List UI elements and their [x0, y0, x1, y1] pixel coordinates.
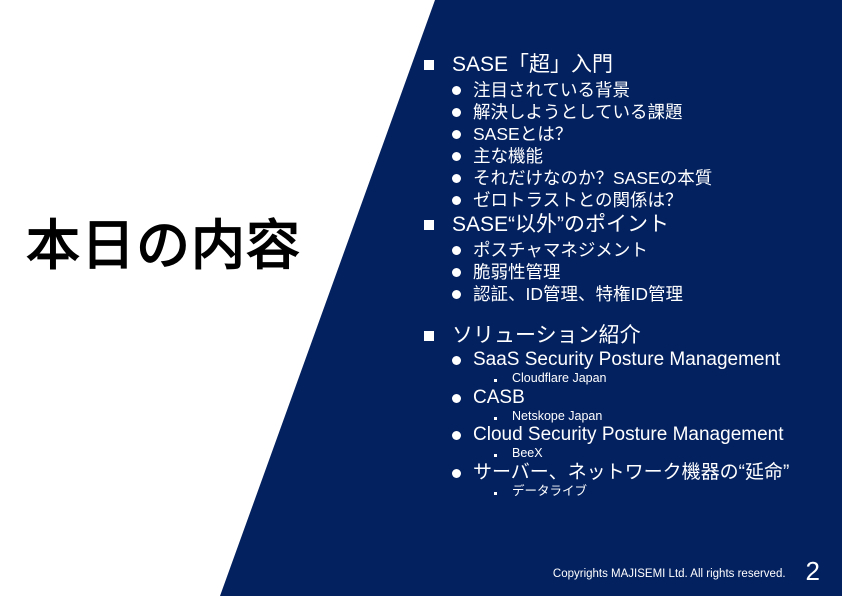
slide: 本日の内容 SASE「超」入門 注目されている背景 解決しようとしている課題 S… [0, 0, 842, 596]
circle-bullet-icon [452, 469, 461, 478]
square-bullet-icon [424, 331, 434, 341]
page-number: 2 [806, 558, 820, 584]
circle-bullet-icon [452, 356, 461, 365]
circle-bullet-icon [452, 431, 461, 440]
outline-group-solutions: ソリューション紹介 SaaS Security Posture Manageme… [424, 323, 838, 499]
dot-bullet-icon [494, 454, 497, 457]
circle-bullet-icon [452, 246, 461, 255]
square-bullet-icon [424, 220, 434, 230]
list-item-label: SaaS Security Posture Management [473, 349, 838, 371]
outline-heading: SASE“以外”のポイント [424, 212, 838, 238]
slide-footer: Copyrights MAJISEMI Ltd. All rights rese… [553, 558, 820, 584]
circle-bullet-icon [452, 86, 461, 95]
list-item: SASEとは？ [452, 123, 838, 145]
outline-heading-label: ソリューション紹介 [452, 323, 838, 349]
list-item-label: ゼロトラストとの関係は？ [473, 189, 838, 211]
circle-bullet-icon [452, 394, 461, 403]
outline-heading-label: SASE“以外”のポイント [452, 212, 838, 238]
list-item: Cloud Security Posture Management [452, 424, 838, 446]
list-item-label: SASEとは？ [473, 123, 838, 145]
sub-list-item: Cloudflare Japan [494, 371, 838, 387]
copyright-text: Copyrights MAJISEMI Ltd. All rights rese… [553, 569, 786, 585]
circle-bullet-icon [452, 268, 461, 277]
sub-list-item: データライブ [494, 484, 838, 500]
circle-bullet-icon [452, 174, 461, 183]
outline-content: SASE「超」入門 注目されている背景 解決しようとしている課題 SASEとは？… [424, 52, 838, 499]
dot-bullet-icon [494, 492, 497, 495]
outline-heading: SASE「超」入門 [424, 52, 838, 78]
list-item: ポスチャマネジメント [452, 239, 838, 261]
list-item-label: 認証、ID管理、特権ID管理 [473, 283, 838, 305]
list-item: 主な機能 [452, 145, 838, 167]
list-item: 認証、ID管理、特権ID管理 [452, 283, 838, 305]
section-spacer [424, 305, 838, 323]
list-item: SaaS Security Posture Management [452, 349, 838, 371]
sub-list-item: Netskope Japan [494, 409, 838, 425]
circle-bullet-icon [452, 290, 461, 299]
circle-bullet-icon [452, 130, 461, 139]
sub-list-item-label: Cloudflare Japan [512, 371, 838, 387]
circle-bullet-icon [452, 196, 461, 205]
list-item-label: それだけなのか？SASEの本質 [473, 167, 838, 189]
page-title: 本日の内容 [26, 218, 356, 275]
list-item: CASB [452, 387, 838, 409]
circle-bullet-icon [452, 152, 461, 161]
sub-list-item-label: Netskope Japan [512, 409, 838, 425]
list-item-label: ポスチャマネジメント [473, 239, 838, 261]
list-item-label: Cloud Security Posture Management [473, 424, 838, 446]
list-item: ゼロトラストとの関係は？ [452, 189, 838, 211]
dot-bullet-icon [494, 379, 497, 382]
sub-list-item-label: データライブ [512, 484, 838, 500]
list-item-label: 注目されている背景 [473, 79, 838, 101]
list-item: 脆弱性管理 [452, 261, 838, 283]
sub-list-item-label: BeeX [512, 446, 838, 462]
list-item-label: 主な機能 [473, 145, 838, 167]
dot-bullet-icon [494, 417, 497, 420]
sub-list-item: BeeX [494, 446, 838, 462]
list-item: 解決しようとしている課題 [452, 101, 838, 123]
list-item: サーバー、ネットワーク機器の“延命” [452, 462, 838, 484]
list-item: 注目されている背景 [452, 79, 838, 101]
list-item-label: 脆弱性管理 [473, 261, 838, 283]
list-item-label: サーバー、ネットワーク機器の“延命” [473, 462, 838, 484]
list-item-label: CASB [473, 387, 838, 409]
square-bullet-icon [424, 60, 434, 70]
outline-heading: ソリューション紹介 [424, 323, 838, 349]
list-item: それだけなのか？SASEの本質 [452, 167, 838, 189]
outline-group-sase-other-points: SASE“以外”のポイント ポスチャマネジメント 脆弱性管理 認証、ID管理、特… [424, 212, 838, 305]
list-item-label: 解決しようとしている課題 [473, 101, 838, 123]
outline-heading-label: SASE「超」入門 [452, 52, 838, 78]
outline-group-sase-intro: SASE「超」入門 注目されている背景 解決しようとしている課題 SASEとは？… [424, 52, 838, 211]
circle-bullet-icon [452, 108, 461, 117]
